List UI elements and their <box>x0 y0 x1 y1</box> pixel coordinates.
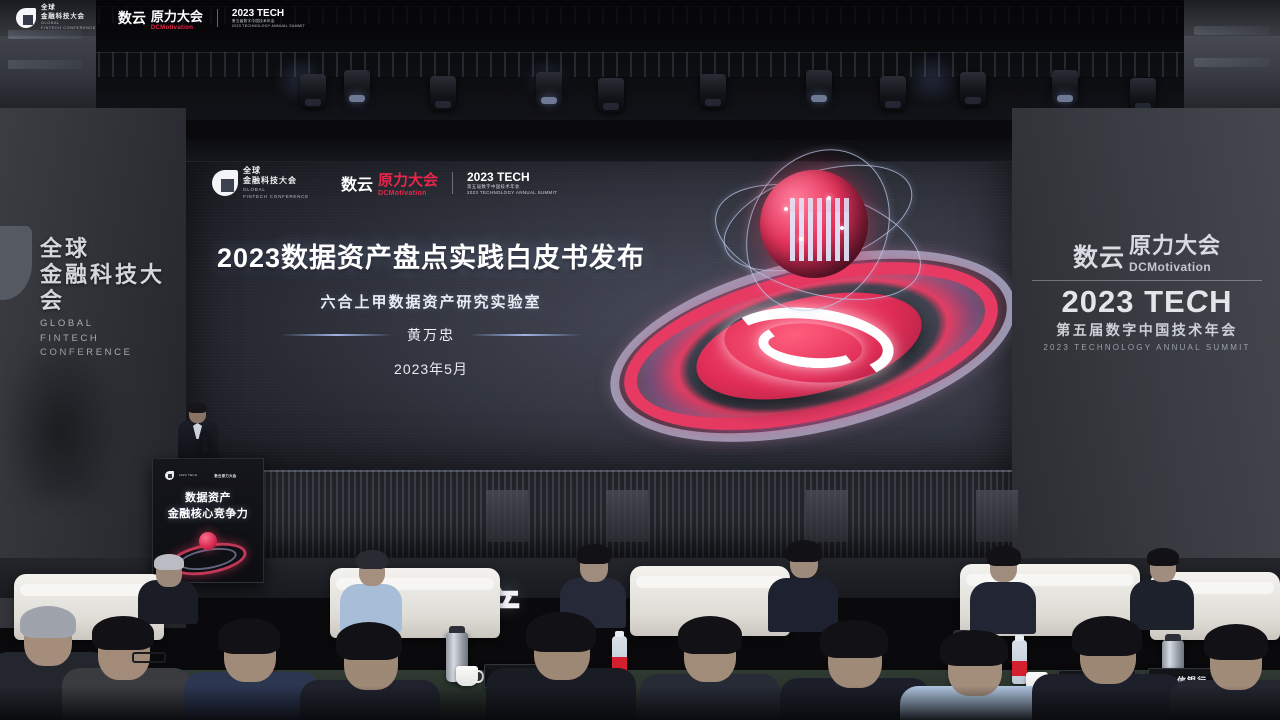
overlay-dc-cn-a: 数云 <box>118 8 146 28</box>
led-screen: 全球 金融科技大会 GLOBAL FINTECH CONFERENCE 数云 原… <box>186 140 1012 470</box>
stage-light <box>300 74 326 108</box>
led-screen-logo-row: 全球 金融科技大会 GLOBAL FINTECH CONFERENCE 数云 原… <box>212 166 557 201</box>
left-wall-en-line1: GLOBAL <box>40 317 186 331</box>
conference-scene: 全球 金融科技大会 GLOBAL FINTECH CONFERENCE 数云 原… <box>0 0 1280 720</box>
speaker-shadow <box>0 330 120 500</box>
stage-light <box>430 76 456 110</box>
right-wall-year: 2023 TECH <box>1032 286 1262 317</box>
right-wall-summit-en: 2023 TECHNOLOGY ANNUAL SUMMIT <box>1032 343 1262 352</box>
led-year-big: 2023 TECH <box>467 170 557 184</box>
overlay-dc-logo: 数云 原力大会 DCMotivation <box>118 6 203 31</box>
podium-title-line1: 数据资产 <box>153 491 263 507</box>
tea-cup <box>456 666 478 686</box>
rule-right <box>469 334 581 336</box>
overlay-year-sub2: 2023 TECHNOLOGY ANNUAL SUMMIT <box>232 24 305 29</box>
led-fintech-en2: FINTECH CONFERENCE <box>243 194 309 200</box>
stage-light <box>1130 78 1156 112</box>
audience-person <box>138 554 198 620</box>
fintech-mark-icon <box>16 8 36 28</box>
right-wall-year-mid: C <box>1184 286 1212 317</box>
overlay-year-logo: 2023 TECH 第五届数字中国技术年会 2023 TECHNOLOGY AN… <box>232 8 305 29</box>
presentation-subtitle: 六合上甲数据资产研究实验室 <box>216 291 646 312</box>
led-year-logo: 2023 TECH 第五届数字中国技术年会 2023 TECHNOLOGY AN… <box>467 170 557 196</box>
stage-light <box>960 72 986 106</box>
speaker-person <box>176 404 220 466</box>
presenter-name: 黄万忠 <box>407 325 455 345</box>
stage-light <box>880 76 906 110</box>
led-fintech-cn1: 全球 <box>243 166 309 176</box>
led-dc-en: DCMotivation <box>378 190 438 197</box>
led-dc-cn-b: 原力大会 <box>378 169 438 190</box>
podium-mark-icon <box>165 471 174 480</box>
podium-title: 数据资产 金融核心竞争力 <box>153 491 263 523</box>
broadcast-overlay-bar: 全球 金融科技大会 GLOBAL FINTECH CONFERENCE 数云 原… <box>0 0 1280 36</box>
presentation-name-row: 黄万忠 <box>216 325 646 345</box>
ceiling-glow <box>900 58 964 100</box>
led-logo-divider <box>452 172 453 194</box>
overlay-divider <box>217 9 218 27</box>
podium-logo-row: 2023 TECH 数云原力大会 <box>165 471 236 480</box>
overlay-fintech-en2: FINTECH CONFERENCE <box>41 26 96 31</box>
right-wall-cn-b: 原力大会 <box>1129 228 1221 260</box>
stage-light <box>344 70 370 104</box>
fintech-mark-icon <box>212 170 238 196</box>
overlay-year-big: 2023 TECH <box>232 8 305 19</box>
overlay-fintech-cn1: 全球 <box>41 4 96 12</box>
right-wall-en: DCMotivation <box>1129 260 1211 274</box>
presentation-date: 2023年5月 <box>216 359 646 379</box>
microphone-icon <box>202 432 209 454</box>
fintech-glyph-icon <box>0 226 32 300</box>
audience-person <box>340 550 402 626</box>
led-fintech-en1: GLOBAL <box>243 187 309 193</box>
right-wall-year-pre: 2023 TE <box>1062 284 1186 319</box>
audience-person <box>1130 548 1194 624</box>
led-fintech-logo: 全球 金融科技大会 GLOBAL FINTECH CONFERENCE <box>212 166 309 201</box>
led-dc-cn-a: 数云 <box>341 171 373 195</box>
led-title-block: 2023数据资产盘点实践白皮书发布 六合上甲数据资产研究实验室 黄万忠 2023… <box>216 236 646 379</box>
stage-light <box>598 78 624 112</box>
right-wall-year-post: H <box>1209 284 1232 319</box>
right-wall-summit-cn: 第五届数字中国技术年会 <box>1032 320 1262 340</box>
audience-person <box>560 544 626 622</box>
artwork-globe-icon <box>760 170 868 278</box>
right-wall-logo: 数云 原力大会 DCMotivation 2023 TECH 第五届数字中国技术… <box>1032 228 1262 352</box>
left-wall-cn-line2: 金融科技大会 <box>40 262 186 314</box>
overlay-fintech-logo: 全球 金融科技大会 GLOBAL FINTECH CONFERENCE <box>16 4 96 32</box>
stage-light <box>536 72 562 106</box>
led-dc-logo: 数云 原力大会 DCMotivation <box>341 169 438 197</box>
presentation-title: 2023数据资产盘点实践白皮书发布 <box>216 236 646 275</box>
right-wall-cn-a: 数云 <box>1073 238 1125 274</box>
overlay-dc-cn-b: 原力大会 <box>151 6 203 25</box>
audience-area: 中国进出口银行 中信银行 中信银行 <box>0 520 1280 720</box>
right-wall-divider <box>1032 280 1262 281</box>
overlay-fintech-cn2: 金融科技大会 <box>41 13 96 21</box>
left-wall-cn-line1: 全球 <box>40 236 186 262</box>
podium-logo-en: 2023 TECH <box>179 473 197 478</box>
stage-light <box>1052 70 1078 104</box>
led-year-sub2: 2023 TECHNOLOGY ANNUAL SUMMIT <box>467 190 557 196</box>
foreground-vignette <box>0 686 1280 720</box>
eyeglasses-icon <box>132 652 166 663</box>
audience-person <box>768 540 838 624</box>
audience-person <box>970 546 1036 626</box>
stage-light <box>700 74 726 108</box>
ceiling-truss-front <box>0 52 1280 78</box>
led-artwork <box>616 156 1012 470</box>
stage-light <box>806 70 832 104</box>
rule-left <box>281 334 393 336</box>
podium-logo-cn: 数云原力大会 <box>214 473 236 478</box>
led-fintech-cn2: 金融科技大会 <box>243 176 309 186</box>
overlay-dc-en: DCMotivation <box>151 25 203 31</box>
